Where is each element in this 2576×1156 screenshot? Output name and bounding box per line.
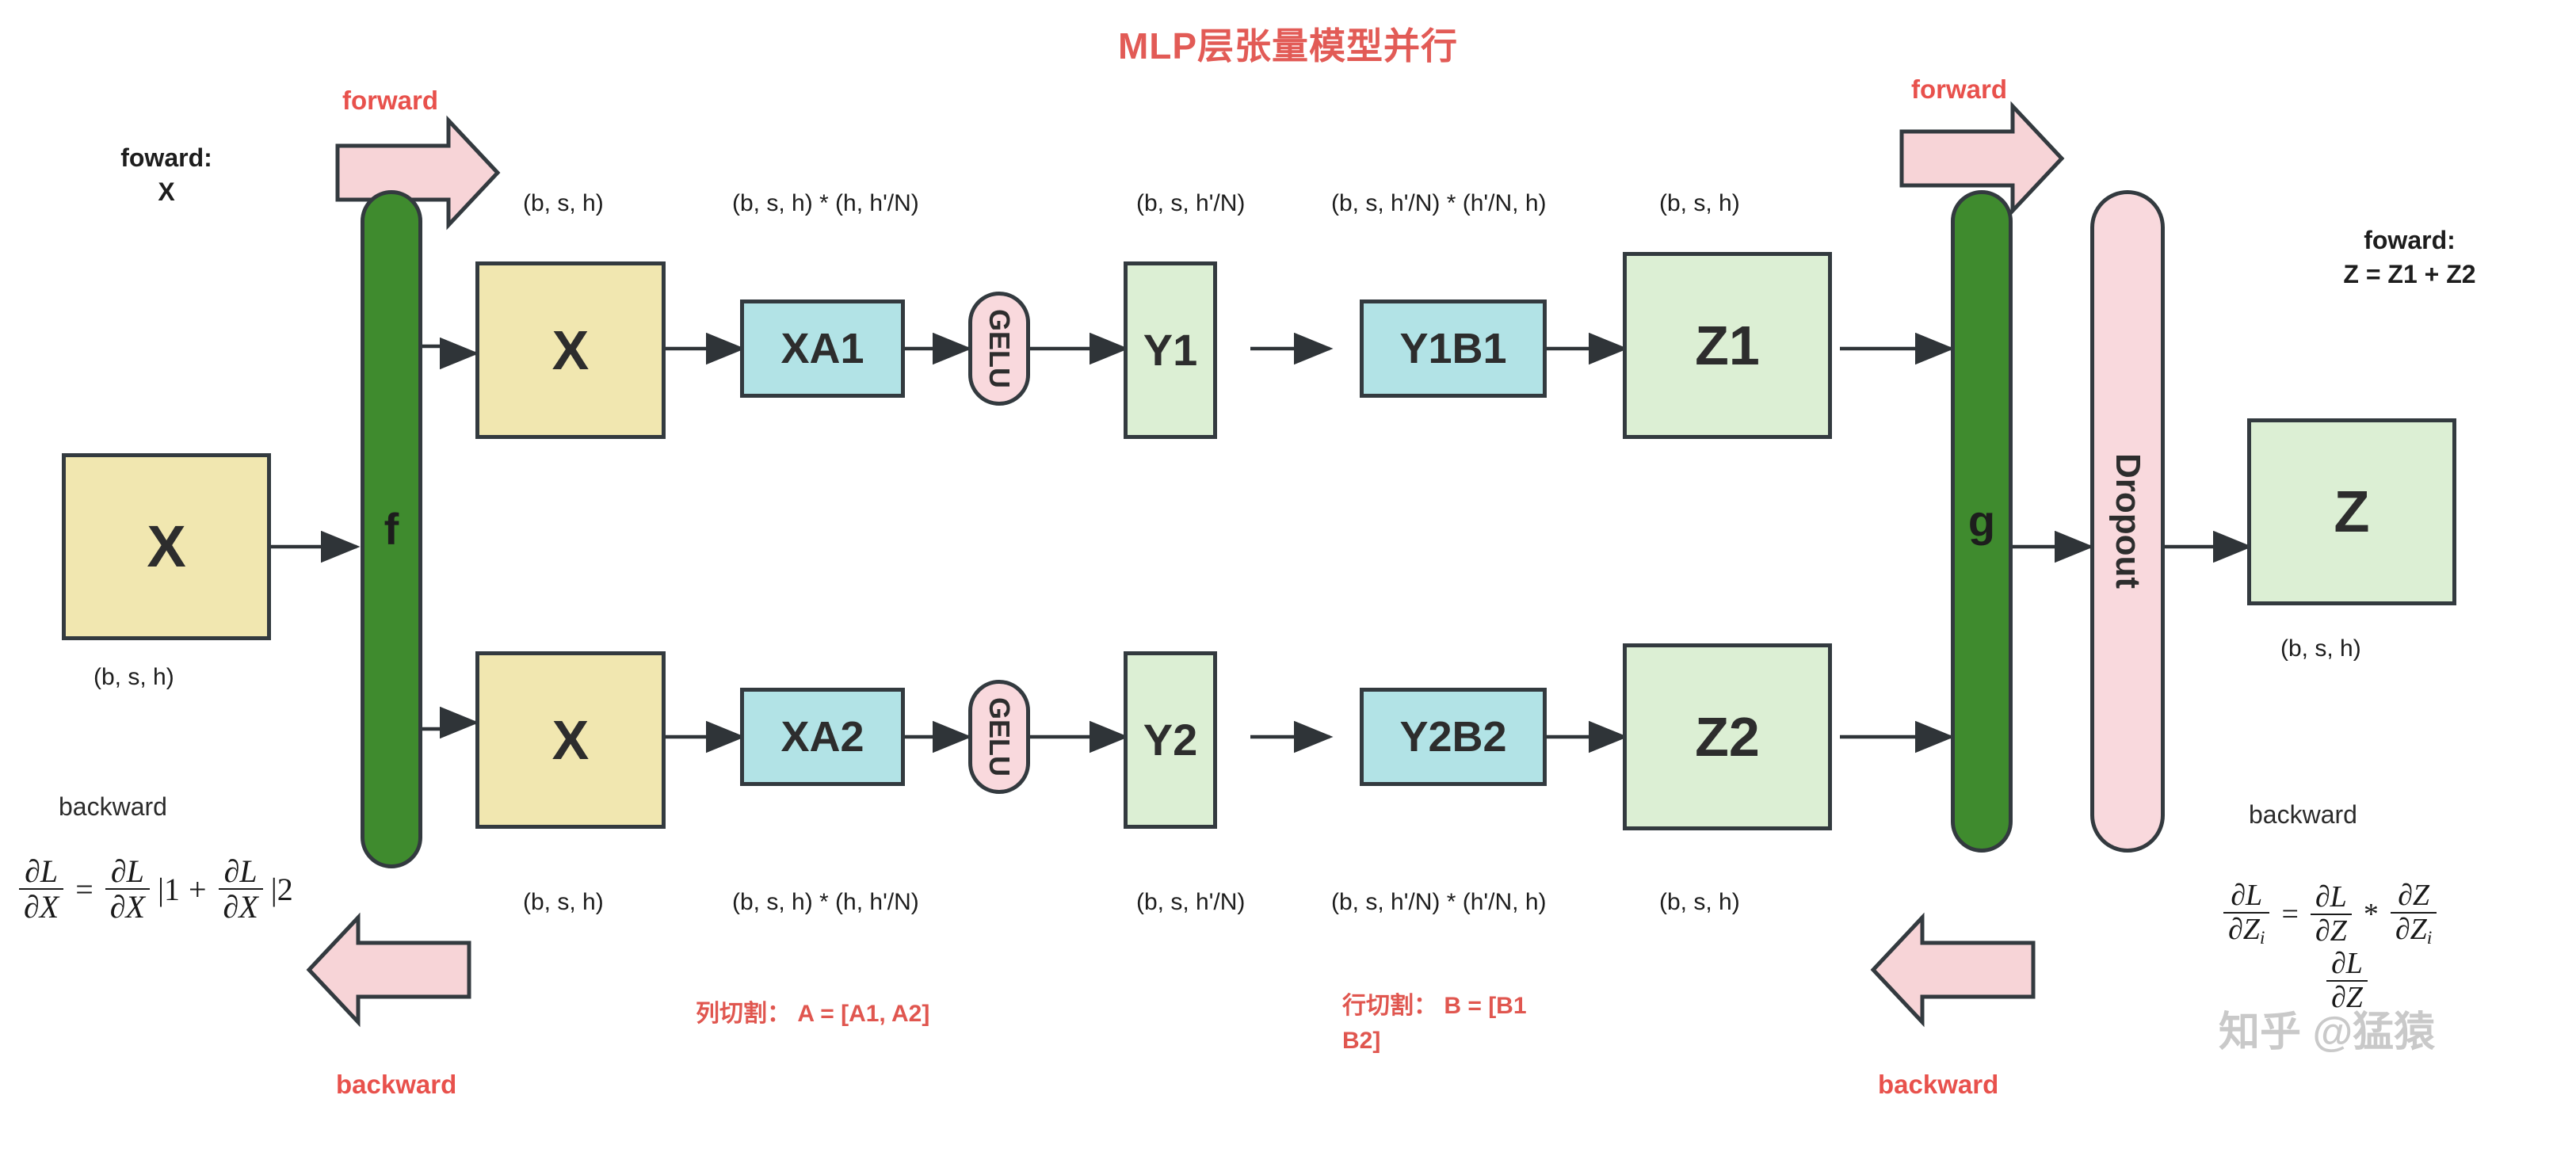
input-x-box: X [62,453,271,640]
output-z-label: Z [2334,483,2369,541]
top-gelu-label: GELU [985,309,1013,388]
dropout-label: Dropout [2110,453,2145,589]
shape-y-top: (b, s, h'/N) [1136,190,1245,217]
f-allreduce-pill: f [361,190,422,868]
top-y-box: Y1 [1124,261,1217,439]
formula-right-times: * [2364,897,2379,932]
top-z-label: Z1 [1695,318,1760,373]
backward-label-right: backward [1878,1070,1998,1100]
formula-left-eq: = [75,871,93,908]
top-y-label: Y1 [1143,328,1198,372]
formula-right-t1-num: ∂L [2311,881,2352,914]
formula-left-t1-num: ∂L [106,854,149,888]
column-cut-note: 列切割： A = [A1, A2] [696,997,929,1032]
backward-arrow-left [309,918,469,1022]
shape-z-top: (b, s, h) [1659,190,1740,217]
top-x-box: X [475,261,666,439]
row-cut-note: 行切割： B = [B1 B2] [1342,989,1527,1058]
bottom-xa-label: XA2 [780,715,864,758]
top-x-label: X [552,322,590,378]
f-pill-label: f [384,507,399,551]
output-z-shape: (b, s, h) [2280,635,2361,662]
formula-right-t1-den: ∂Z [2311,914,2352,948]
output-z-box: Z [2247,418,2456,605]
shape-z-bottom: (b, s, h) [1659,889,1740,916]
bottom-y-box: Y2 [1124,651,1217,829]
formula-right-lhs-sub: i [2260,928,2265,948]
diagram-canvas: MLP层张量模型并行 foward: X forward X (b, s, h)… [0,0,2576,1156]
shape-yb-top: (b, s, h'/N) * (h'/N, h) [1331,190,1547,217]
shape-y-bottom: (b, s, h'/N) [1136,889,1245,916]
input-x-label: X [147,517,185,576]
shape-x-top: (b, s, h) [523,190,604,217]
forward-label-right: forward [1911,74,2007,105]
left-backward-label: backward [59,792,167,822]
shape-xa-top: (b, s, h) * (h, h'/N) [732,190,919,217]
right-forward-note: foward: Z = Z1 + Z2 [2263,223,2556,292]
page-title: MLP层张量模型并行 [0,17,2576,70]
formula-right-lhs-num: ∂L [2226,879,2267,912]
bottom-gelu-label: GELU [985,697,1013,776]
left-forward-note: foward: X [79,141,254,209]
formula-right-l2-num: ∂L [2326,948,2368,980]
bottom-yb-label: Y2B2 [1399,715,1506,758]
g-pill-label: g [1968,499,1995,544]
formula-left-lhs-den: ∂X [19,888,63,924]
dropout-pill: Dropout [2090,190,2165,853]
bottom-gelu-pill: GELU [968,680,1030,794]
formula-left-t2-bar: |2 [271,871,293,908]
bottom-xa-box: XA2 [740,688,905,786]
shape-x-bottom: (b, s, h) [523,889,604,916]
left-backward-formula: ∂L ∂X = ∂L ∂X |1 + ∂L ∂X |2 [14,854,295,924]
formula-right-t2-den: ∂Z [2395,913,2427,946]
input-x-shape: (b, s, h) [93,664,174,691]
bottom-z-label: Z2 [1695,709,1760,765]
shape-yb-bottom: (b, s, h'/N) * (h'/N, h) [1331,889,1547,916]
shape-xa-bottom: (b, s, h) * (h, h'/N) [732,889,919,916]
top-gelu-pill: GELU [968,292,1030,406]
top-xa-box: XA1 [740,299,905,398]
formula-left-t2-den: ∂X [219,888,263,924]
formula-left-plus: + [189,871,207,908]
top-yb-label: Y1B1 [1399,327,1506,370]
bottom-x-label: X [552,712,590,768]
g-allreduce-pill: g [1951,190,2013,853]
backward-label-left: backward [336,1070,456,1100]
formula-right-t2-num: ∂Z [2393,879,2434,912]
bottom-x-box: X [475,651,666,829]
forward-label-left: forward [342,86,438,116]
formula-left-lhs-num: ∂L [20,854,63,888]
bottom-y-label: Y2 [1143,718,1198,762]
bottom-z-box: Z2 [1623,643,1832,830]
right-backward-formula: ∂L ∂Zi = ∂L ∂Z * ∂Z ∂Zi [2219,879,2441,948]
formula-right-lhs-den: ∂Z [2228,913,2260,946]
formula-left-t1-bar: |1 [158,871,180,908]
formula-left-t1-den: ∂X [105,888,150,924]
top-z-box: Z1 [1623,252,1832,439]
top-xa-label: XA1 [780,327,864,370]
formula-left-t2-num: ∂L [219,854,262,888]
bottom-yb-box: Y2B2 [1360,688,1547,786]
top-yb-box: Y1B1 [1360,299,1547,398]
backward-arrow-right [1873,918,2033,1022]
formula-right-eq: = [2281,897,2298,932]
formula-right-t2-sub: i [2427,928,2433,948]
watermark: 知乎 @猛猿 [2219,998,2435,1058]
right-backward-label: backward [2249,800,2357,830]
